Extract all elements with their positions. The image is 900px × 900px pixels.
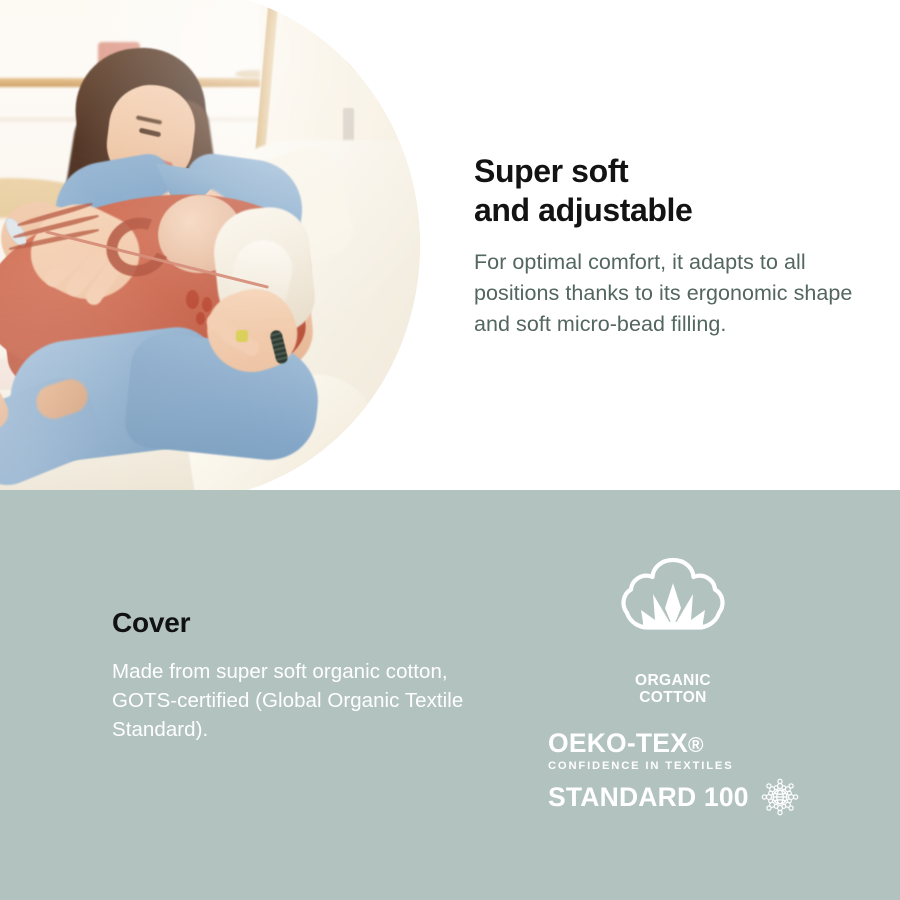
organic-cotton-boll-icon: [613, 550, 733, 675]
oeko-tex-globe-icon: [757, 774, 803, 820]
oeko-tex-standard-row: STANDARD 100: [548, 776, 808, 820]
cover-heading: Cover: [112, 607, 512, 639]
cover-section: Cover Made from super soft organic cotto…: [0, 490, 900, 900]
super-soft-section: Super soft and adjustable For optimal co…: [0, 0, 900, 490]
organic-cotton-label-line-1: ORGANIC: [613, 673, 733, 690]
product-feature-page: Super soft and adjustable For optimal co…: [0, 0, 900, 900]
photo-canvas: [0, 0, 420, 490]
oeko-tex-tagline: CONFIDENCE IN TEXTILES: [548, 761, 808, 772]
super-soft-heading-line-1: Super soft: [474, 152, 860, 191]
super-soft-heading: Super soft and adjustable: [474, 152, 860, 230]
oeko-tex-title-row: OEKO-TEX®: [548, 730, 808, 757]
photo-pillow-dot-3: [196, 312, 205, 325]
registered-mark: ®: [688, 734, 704, 757]
photo-ring: [236, 330, 248, 342]
oeko-tex-standard: STANDARD 100: [548, 784, 749, 811]
organic-cotton-certification: ORGANIC COTTON: [613, 550, 733, 675]
photo-pillow-dot-1: [186, 290, 199, 309]
certification-logos: ORGANIC COTTON OEKO-TEX® CONFIDENCE IN T…: [548, 540, 848, 870]
photo-pillow-dot-2: [202, 297, 212, 312]
super-soft-text-block: Super soft and adjustable For optimal co…: [474, 152, 860, 341]
oeko-tex-title: OEKO-TEX: [548, 728, 688, 758]
organic-cotton-label-line-2: COTTON: [613, 690, 733, 707]
lifestyle-photo: [0, 0, 420, 490]
cover-body: Made from super soft organic cotton, GOT…: [112, 657, 512, 744]
oeko-tex-certification: OEKO-TEX® CONFIDENCE IN TEXTILES STANDAR…: [548, 730, 808, 810]
super-soft-heading-line-2: and adjustable: [474, 191, 860, 230]
super-soft-body: For optimal comfort, it adapts to all po…: [474, 247, 860, 341]
cover-text-block: Cover Made from super soft organic cotto…: [112, 607, 512, 744]
